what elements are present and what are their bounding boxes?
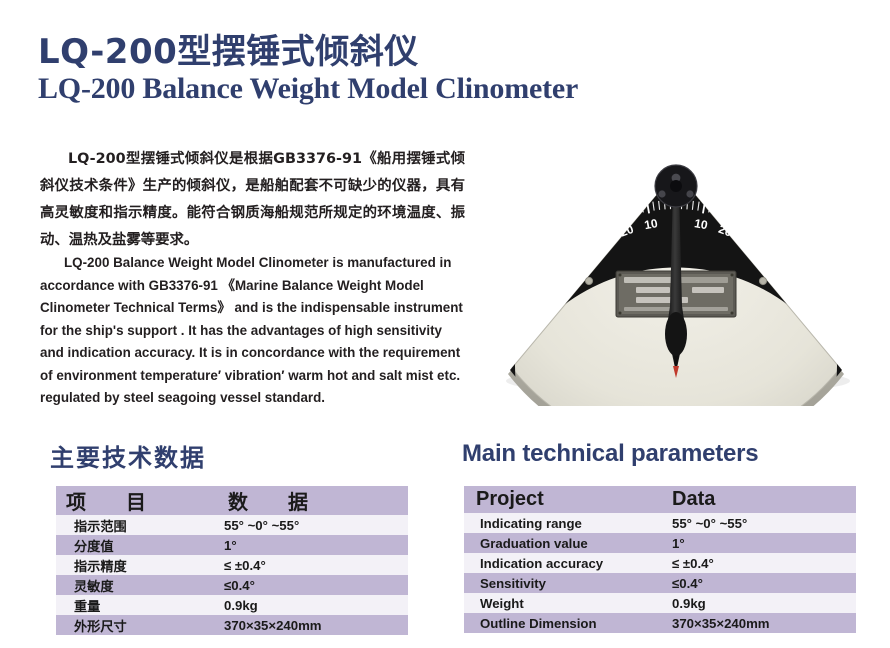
- table-row: 重量 0.9kg: [56, 595, 408, 615]
- table-row: 灵敏度 ≤0.4°: [56, 575, 408, 595]
- row-label: Weight: [464, 593, 666, 613]
- row-label: 外形尺寸: [56, 615, 216, 635]
- table-row: 分度值 1°: [56, 535, 408, 555]
- row-value: 1°: [666, 533, 856, 553]
- scale-label-right-30: 30: [739, 232, 758, 251]
- table-row: Graduation value 1°: [464, 533, 856, 553]
- row-label: Indication accuracy: [464, 553, 666, 573]
- scale-label-right-40: 40: [759, 246, 778, 266]
- table-header-row: 项 目 数 据: [56, 486, 408, 515]
- row-value: ≤0.4°: [216, 575, 408, 595]
- row-value: 1°: [216, 535, 408, 555]
- row-value: 370×35×240mm: [666, 613, 856, 633]
- spec-table-english: Project Data Indicating range 55° ~0° ~5…: [464, 486, 856, 633]
- row-label: Sensitivity: [464, 573, 666, 593]
- table-header-row: Project Data: [464, 486, 856, 513]
- column-header-data: 数 据: [216, 486, 408, 515]
- intro-paragraph-chinese: LQ-200型摆锤式倾斜仪是根据GB3376-91《船用摆锤式倾斜仪技术条件》生…: [40, 146, 465, 254]
- row-value: ≤ ±0.4°: [216, 555, 408, 575]
- table-row: Sensitivity ≤0.4°: [464, 573, 856, 593]
- scale-label-right-10: 10: [693, 216, 709, 232]
- scale-label-left-10: 10: [643, 216, 659, 232]
- clinometer-product-photo: 50 40 30 20 10 0 10 20 30 40 50: [470, 138, 882, 406]
- row-label: 指示范围: [56, 515, 216, 535]
- page-title-chinese: LQ-200型摆锤式倾斜仪: [38, 24, 419, 73]
- row-label: Indicating range: [464, 513, 666, 533]
- section-heading-english: Main technical parameters: [462, 440, 758, 468]
- table-row: Indicating range 55° ~0° ~55°: [464, 513, 856, 533]
- row-label: Outline Dimension: [464, 613, 666, 633]
- table-row: Outline Dimension 370×35×240mm: [464, 613, 856, 633]
- scale-label-right-50: 50: [777, 264, 797, 283]
- table-row: Indication accuracy ≤ ±0.4°: [464, 553, 856, 573]
- row-value: 0.9kg: [216, 595, 408, 615]
- scale-label-left-30: 30: [595, 232, 614, 251]
- table-row: 指示精度 ≤ ±0.4°: [56, 555, 408, 575]
- row-value: ≤0.4°: [666, 573, 856, 593]
- row-value: 370×35×240mm: [216, 615, 408, 635]
- row-value: 0.9kg: [666, 593, 856, 613]
- row-value: 55° ~0° ~55°: [216, 515, 408, 535]
- intro-paragraph-english: LQ-200 Balance Weight Model Clinometer i…: [40, 252, 468, 410]
- column-header-project: Project: [464, 486, 666, 513]
- scale-label-left-40: 40: [574, 246, 593, 266]
- table-row: Weight 0.9kg: [464, 593, 856, 613]
- row-label: 指示精度: [56, 555, 216, 575]
- pivot-hub: [655, 165, 697, 207]
- row-label: 重量: [56, 595, 216, 615]
- section-heading-chinese: 主要技术数据: [50, 438, 206, 473]
- page-title-english: LQ-200 Balance Weight Model Clinometer: [38, 72, 578, 106]
- row-label: Graduation value: [464, 533, 666, 553]
- row-label: 分度值: [56, 535, 216, 555]
- column-header-item: 项 目: [56, 486, 216, 515]
- spec-table-chinese: 项 目 数 据 指示范围 55° ~0° ~55° 分度值 1° 指示精度 ≤ …: [56, 486, 408, 635]
- table-row: 指示范围 55° ~0° ~55°: [56, 515, 408, 535]
- row-value: 55° ~0° ~55°: [666, 513, 856, 533]
- column-header-data: Data: [666, 486, 856, 513]
- row-value: ≤ ±0.4°: [666, 553, 856, 573]
- row-label: 灵敏度: [56, 575, 216, 595]
- scale-label-left-50: 50: [556, 264, 576, 283]
- table-row: 外形尺寸 370×35×240mm: [56, 615, 408, 635]
